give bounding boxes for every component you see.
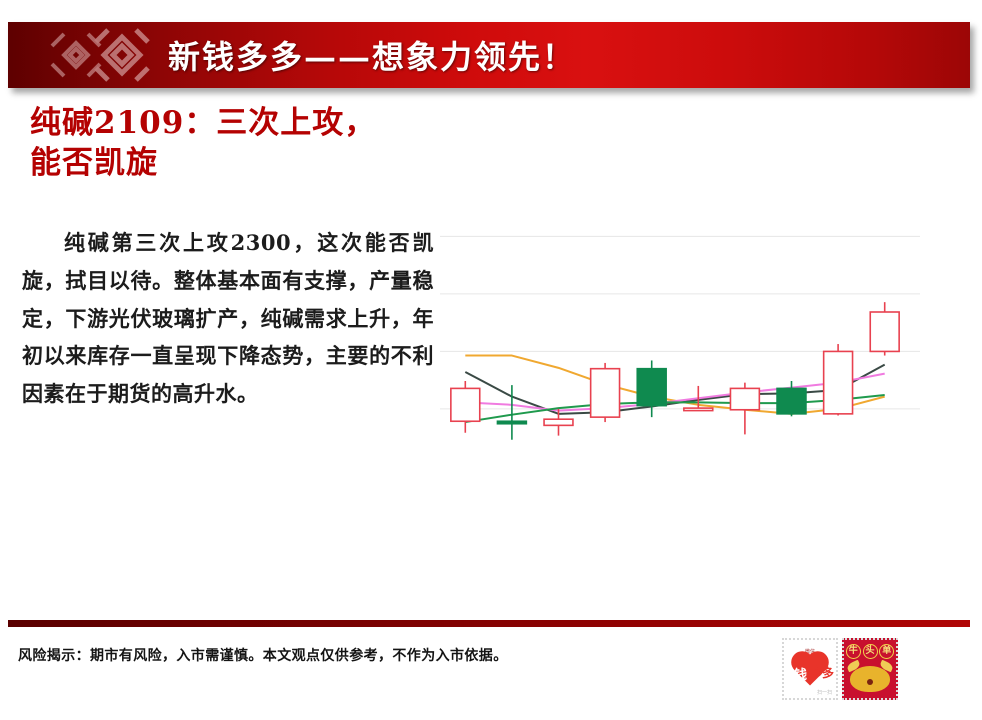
page-title-line-2: 能否凯旋 (30, 144, 450, 184)
logo-qiandudo-bottom-mini: 扫一扫 (817, 689, 832, 696)
logo-niutoudan-char-1: 头 (863, 644, 878, 659)
bull-nose-icon (867, 679, 873, 685)
page-title-line-1: 纯碱2109：三次上攻， (30, 104, 450, 144)
header-title: 新钱多多——想象力领先！ (168, 32, 576, 78)
candlestick-chart (440, 206, 930, 496)
header-bar: 新钱多多——想象力领先！ (8, 22, 970, 88)
candle-body (544, 419, 573, 425)
candle-body (451, 388, 480, 421)
candle-body (824, 351, 853, 413)
logo-group: 微信 钱 多多 扫一扫 牛头单 (782, 638, 898, 700)
logo-niutoudan-char-0: 牛 (846, 644, 861, 659)
logo-niutoudan-chars: 牛头单 (844, 644, 896, 659)
logo-qiandudo[interactable]: 微信 钱 多多 扫一扫 (782, 638, 838, 700)
chart-svg (440, 206, 930, 496)
chinese-knot-emblem-icon (30, 24, 158, 86)
logo-niutoudan[interactable]: 牛头单 (842, 638, 898, 700)
logo-qiandudo-main-char: 钱 (794, 664, 807, 683)
logo-qiandudo-side-char: 多多 (811, 664, 833, 681)
page-title: 纯碱2109：三次上攻， 能否凯旋 (30, 104, 450, 183)
risk-disclaimer: 风险揭示：期市有风险，入市需谨慎。本文观点仅供参考，不作为入市依据。 (18, 645, 508, 665)
candle-body (870, 312, 899, 351)
candle-body (684, 408, 713, 411)
body-paragraph: 纯碱第三次上攻2300，这次能否凯旋，拭目以待。整体基本面有支撑，产量稳定，下游… (22, 224, 434, 413)
slide-canvas: 新钱多多——想象力领先！ 纯碱2109：三次上攻， 能否凯旋 纯碱第三次上攻23… (0, 0, 982, 720)
candle-body (497, 421, 526, 424)
footer-divider (8, 620, 970, 627)
candle-body (777, 388, 806, 413)
logo-niutoudan-char-2: 单 (879, 644, 894, 659)
candle-body (637, 369, 666, 406)
candle-body (730, 388, 759, 409)
chart-ma-lines (465, 356, 884, 423)
chart-candles (451, 302, 899, 440)
candle-body (591, 369, 620, 417)
